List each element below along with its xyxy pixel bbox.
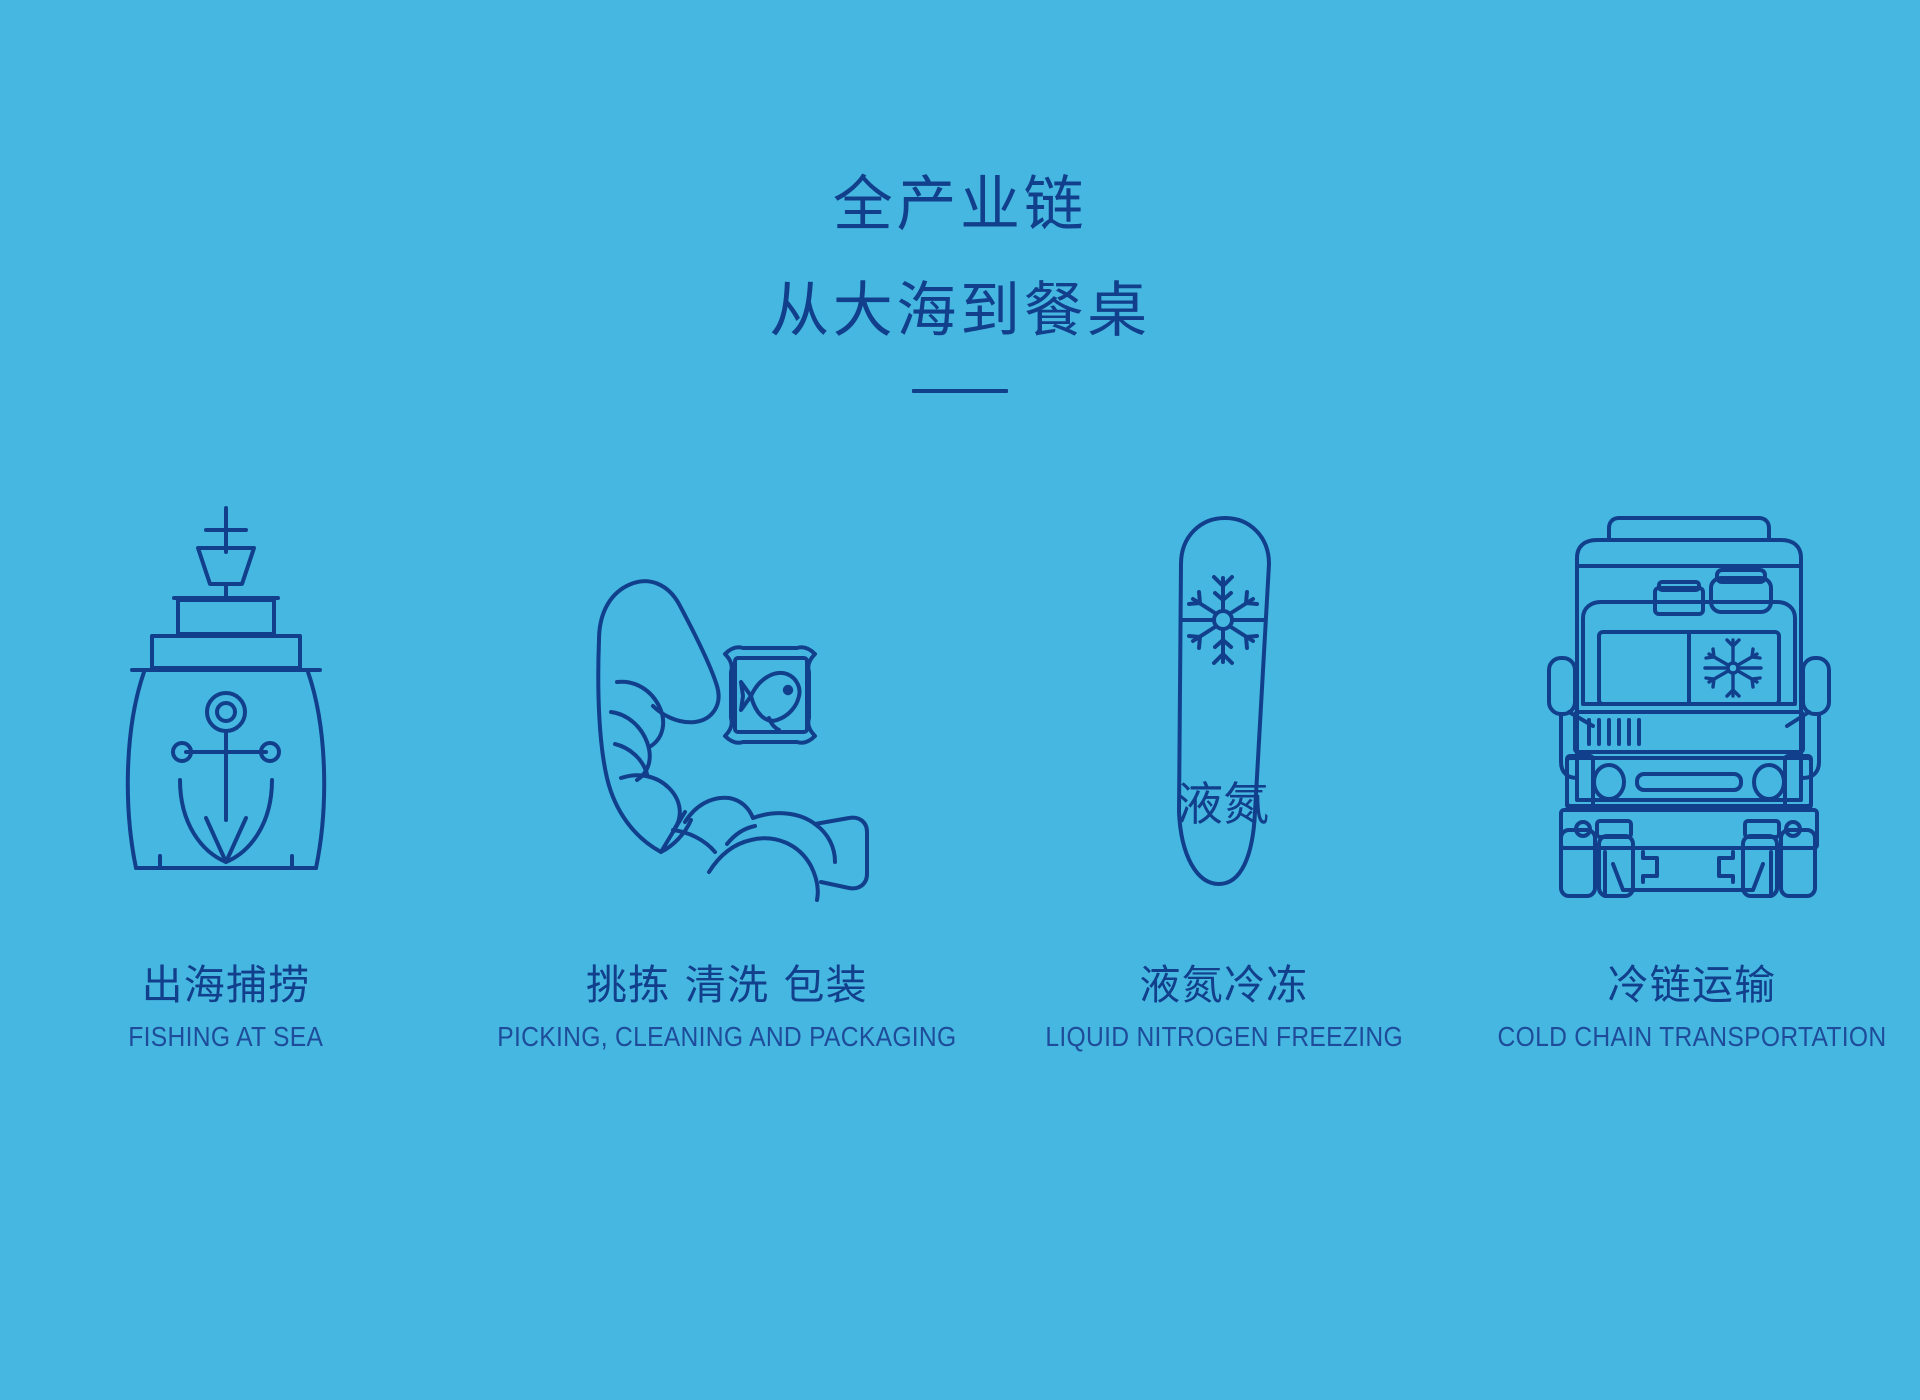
step-fishing-at-sea: 出海捕捞 FISHING AT SEA [0,500,460,1053]
labels-truck: 冷链运输 COLD CHAIN TRANSPORTATION [1471,962,1913,1053]
title-divider-wrap [0,389,1920,393]
icon-container-fishing [86,500,366,900]
snowflake-icon [1181,577,1265,663]
step-picking-cleaning-packaging: 挑拣 清洗 包装 PICKING, CLEANING AND PACKAGING [466,500,988,1053]
step-liquid-nitrogen-freezing: 液氮 液氮冷冻 LIQUID NITROGEN FREEZING [990,500,1458,1053]
process-steps-row: 出海捕捞 FISHING AT SEA [0,500,1920,1053]
page-title-primary: 全产业链 [0,175,1920,235]
page-header: 全产业链 从大海到餐桌 [0,0,1920,393]
page-title-secondary: 从大海到餐桌 [0,281,1920,341]
hands-fish-package-icon [577,500,877,900]
snowflake-icon [1705,640,1761,696]
labels-nitrogen: 液氮冷冻 LIQUID NITROGEN FREEZING [1021,962,1427,1053]
step-label-en: PICKING, CLEANING AND PACKAGING [497,1022,956,1053]
icon-container-packaging [577,500,877,900]
step-label-cn: 出海捕捞 [115,962,337,1009]
refrigerated-truck-icon [1547,500,1837,900]
step-label-en: LIQUID NITROGEN FREEZING [1045,1022,1403,1053]
nitrogen-tank-text: 液氮 [1177,777,1269,831]
step-cold-chain-transportation: 冷链运输 COLD CHAIN TRANSPORTATION [1458,500,1920,1053]
step-label-en: FISHING AT SEA [129,1022,324,1053]
step-label-cn: 冷链运输 [1471,962,1913,1009]
title-divider [912,389,1008,393]
infographic-page: 全产业链 从大海到餐桌 [0,0,1920,1400]
step-label-cn: 挑拣 清洗 包装 [466,962,988,1009]
icon-container-nitrogen: 液氮 [1129,500,1319,900]
fishing-boat-anchor-icon [86,500,366,900]
labels-fishing: 出海捕捞 FISHING AT SEA [115,962,337,1053]
step-label-en: COLD CHAIN TRANSPORTATION [1498,1022,1887,1053]
nitrogen-tank-snowflake-icon: 液氮 [1129,500,1319,900]
step-label-cn: 液氮冷冻 [1021,962,1427,1009]
icon-container-truck [1547,500,1837,900]
labels-packaging: 挑拣 清洗 包装 PICKING, CLEANING AND PACKAGING [466,962,988,1053]
